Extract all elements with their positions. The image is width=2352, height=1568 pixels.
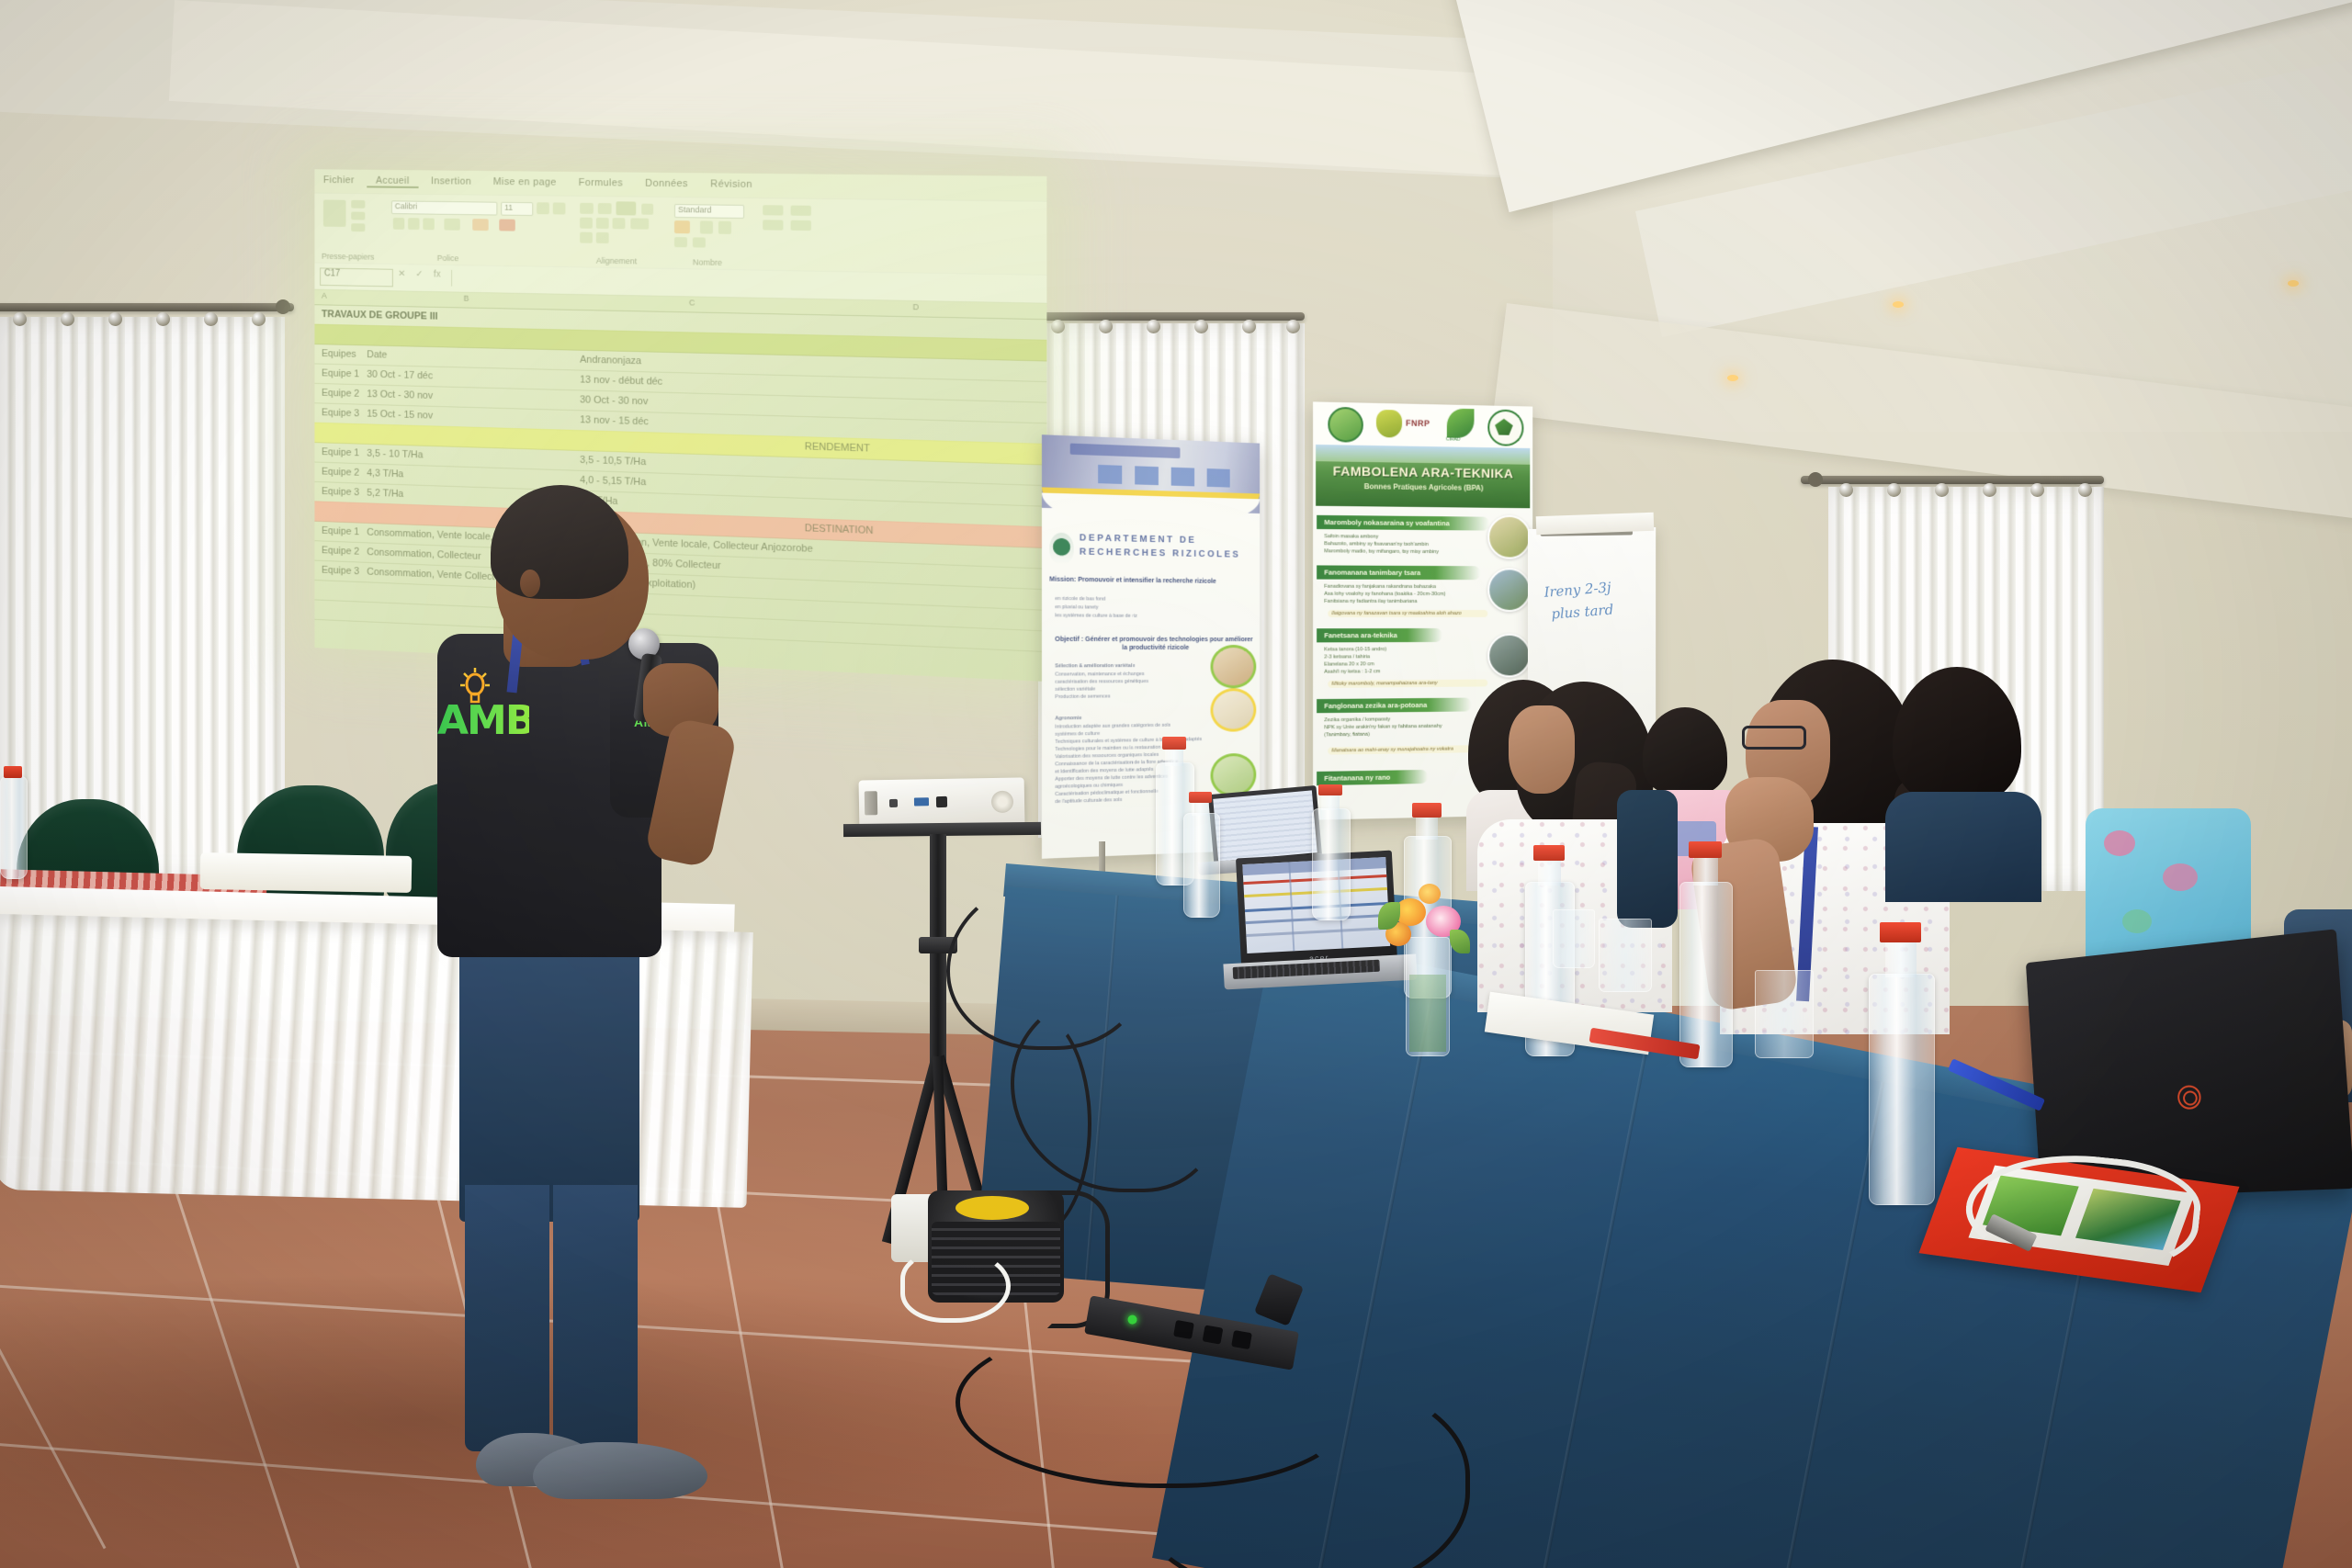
drinking-glass[interactable] <box>1599 919 1652 992</box>
projector-power-port <box>889 799 898 807</box>
banner-bullet: NPK sy Urée arakin'ny fakan sy fahitana … <box>1324 724 1442 732</box>
banner-section-photo <box>1487 515 1531 559</box>
font-color-icon[interactable] <box>499 220 514 231</box>
fofifa-logo-icon <box>1328 407 1363 443</box>
banner-bullet: Elanelana 20 x 20 cm <box>1324 661 1374 669</box>
col-header-a[interactable]: A <box>322 291 327 300</box>
projector <box>859 777 1025 828</box>
drinking-glass[interactable] <box>1755 970 1814 1058</box>
presenter-ear <box>520 570 540 597</box>
percent-icon[interactable] <box>700 220 713 233</box>
grow-font-icon[interactable] <box>537 202 549 214</box>
curtain-left <box>0 317 285 882</box>
banner-photo-circle <box>1211 645 1257 688</box>
insert-function-icon[interactable]: fx <box>430 269 444 286</box>
bottle-neck <box>1885 939 1917 977</box>
banner-bullet: Asahi'i ny ketsa : 1-2 cm <box>1324 669 1380 676</box>
excel-tab-mise-en-page[interactable]: Mise en page <box>484 171 565 188</box>
presenter-leg-right <box>553 1185 638 1461</box>
ribbon-group-clipboard: Presse-papiers <box>322 252 374 262</box>
eyeglasses-icon <box>1742 726 1806 750</box>
bottle-cap[interactable] <box>1162 737 1186 750</box>
excel-tab-fichier[interactable]: Fichier <box>314 169 363 186</box>
banner-title: FAMBOLENA ARA-TEKNIKA <box>1316 463 1530 480</box>
number-format-value: Standard <box>678 205 711 214</box>
paste-button[interactable] <box>323 199 346 227</box>
banner-section-heading: Maromboly nokasaraina sy voafantina <box>1317 515 1489 531</box>
banner-section-heading: Fanetsana ara-teknika <box>1317 628 1442 642</box>
bottle-neck <box>1693 854 1718 886</box>
name-box[interactable]: C17 <box>320 267 393 287</box>
flipchart-handwriting-line1: Ireny 2-3j <box>1543 579 1611 601</box>
banner-section-photo <box>1487 634 1531 678</box>
merge-cells-icon[interactable] <box>630 218 649 229</box>
bold-icon[interactable] <box>393 218 404 230</box>
align-middle-icon[interactable] <box>598 203 612 214</box>
curtain-grommet <box>1147 320 1160 333</box>
cell: Equipe 3 <box>322 481 363 502</box>
borders-icon[interactable] <box>444 219 459 231</box>
wrap-text-icon[interactable] <box>616 201 637 215</box>
excel-ribbon: Presse-papiers Calibri 11 Police A <box>314 193 1046 276</box>
cell: Equipe 1 <box>322 364 363 385</box>
excel-tab-donnees[interactable]: Données <box>636 173 696 190</box>
cell: Equipe 3 <box>322 560 363 581</box>
cut-icon[interactable] <box>351 200 365 209</box>
flower-orange <box>1419 884 1441 904</box>
curtain-grommet <box>1286 320 1300 333</box>
fill-color-icon[interactable] <box>472 219 488 231</box>
banner-bullet: 2-3 ketsana / tahiria <box>1324 654 1370 661</box>
banner-note: Mitoky maromboly, manampahaizana ara-tan… <box>1328 679 1487 687</box>
banner-bullet: Bahazoto, ambiny sy fisavanan'ny tsoh'am… <box>1324 541 1429 548</box>
water-bottle[interactable] <box>1869 974 1935 1205</box>
banner-section-a: Sélection & amélioration variétale <box>1055 663 1225 671</box>
water-bottle[interactable] <box>1312 808 1351 920</box>
curtain-grommet <box>1099 320 1113 333</box>
table-cloth-fold <box>200 852 413 893</box>
conference-room-photo: Fichier Accueil Insertion Mise en page F… <box>0 0 2352 1568</box>
curtain-grommet <box>13 312 27 326</box>
fill-icon[interactable] <box>791 206 811 216</box>
shrink-font-icon[interactable] <box>553 202 566 214</box>
banner-mission-bullet: en pluvial ou tanety <box>1055 604 1225 613</box>
cell: Equipe 3 <box>322 403 363 424</box>
excel-tab-revision[interactable]: Révision <box>701 173 762 190</box>
banner-bullet: Asa lohy voalohy sy fanohana (toakika - … <box>1324 592 1445 599</box>
curtain-rod-left <box>0 303 294 311</box>
banner-hero-sky <box>1316 445 1530 465</box>
bottle-cap[interactable] <box>1689 841 1722 858</box>
water-bottle[interactable] <box>0 776 28 879</box>
bottle-cap[interactable] <box>1533 845 1565 861</box>
cirad-logo-icon <box>1447 409 1475 438</box>
currency-icon[interactable] <box>674 220 690 233</box>
underline-icon[interactable] <box>423 218 434 230</box>
banner-title-line2: RECHERCHES RIZICOLES <box>1080 547 1240 559</box>
curtain-grommet <box>252 312 266 326</box>
acer-keyboard[interactable] <box>1233 960 1380 979</box>
floral-print <box>2122 909 2152 933</box>
banner-bullet: Fanitsiana ny fadiantra ilay tanimbarian… <box>1324 599 1417 606</box>
floral-print <box>2163 863 2198 891</box>
cancel-formula-icon[interactable]: ✕ <box>395 269 409 286</box>
curtain-grommet <box>204 312 218 326</box>
confirm-formula-icon[interactable]: ✓ <box>413 269 426 286</box>
excel-tab-insertion[interactable]: Insertion <box>422 170 480 186</box>
curtain-grommet <box>1935 483 1949 497</box>
ribbon-group-nombre: Nombre <box>693 257 722 267</box>
bottle-cap[interactable] <box>4 766 22 778</box>
bottle-cap[interactable] <box>1318 784 1342 795</box>
banner-section-heading: Fanglonana zezika ara-potoana <box>1317 698 1471 714</box>
align-center-icon[interactable] <box>596 218 609 229</box>
align-top-icon[interactable] <box>580 203 594 214</box>
increase-decimal-icon[interactable] <box>674 237 687 247</box>
font-size-value: 11 <box>504 203 513 212</box>
banner-mission-bullet: les systèmes de culture à base de riz <box>1055 613 1225 621</box>
ceiling-downlight <box>1727 375 1738 381</box>
flower-leaf <box>1450 930 1470 953</box>
banner-note: Manatsara ao mahi-anay sy manajahoatra n… <box>1328 745 1487 755</box>
increase-indent-icon[interactable] <box>596 232 609 243</box>
banner-bullet: Maromboly madio, tsy mifangaro, tsy misy… <box>1324 548 1439 556</box>
font-name-value: Calibri <box>395 201 417 210</box>
cirad-logo-text: CIRAD <box>1446 436 1460 442</box>
fofifa-logo-icon <box>1049 533 1074 565</box>
cell: Equipes <box>322 344 363 365</box>
bottle-neck <box>1416 814 1438 840</box>
bottle-cap[interactable] <box>1880 922 1921 942</box>
bottle-cap[interactable] <box>1189 792 1212 803</box>
participant-woman-polka-face <box>1509 705 1575 794</box>
excel-tab-accueil[interactable]: Accueil <box>367 170 419 188</box>
banner-hero-field: FAMBOLENA ARA-TEKNIKA Bonnes Pratiques A… <box>1316 445 1530 508</box>
decrease-decimal-icon[interactable] <box>693 237 706 247</box>
banner-subtitle: Bonnes Pratiques Agricoles (BPA) <box>1316 481 1530 492</box>
participant-holding-child-arm <box>1617 790 1678 928</box>
banner-wave-white <box>1042 493 1260 532</box>
banner-bullet: (Tanimbary, fiatana) <box>1324 732 1370 739</box>
find-select-icon[interactable] <box>791 220 811 231</box>
ceiling-downlight <box>2288 280 2299 287</box>
cell: Equipe 1 <box>322 442 363 463</box>
orientation-icon[interactable] <box>641 204 653 215</box>
banner-photo-circle <box>1211 688 1257 732</box>
curtain-grommet <box>2078 483 2092 497</box>
ribbon-group-police: Police <box>437 254 459 263</box>
col-header-b[interactable]: B <box>464 294 469 303</box>
curtain-grommet <box>2030 483 2044 497</box>
banner-title-line1: DEPARTEMENT DE <box>1080 533 1197 546</box>
cell: Equipe 2 <box>322 383 363 404</box>
presenter-leg-left <box>465 1185 549 1451</box>
presenter-shirt-logo-text: AMBIA <box>437 700 529 744</box>
banner-bullet: Safoin masaka ambony <box>1324 534 1378 541</box>
reel-hub <box>955 1196 1029 1220</box>
banner-logo-row: FNRP CIRAD <box>1313 401 1532 448</box>
rice-logo-icon <box>1376 410 1402 438</box>
projector-vent-icon <box>991 791 1013 813</box>
curtain-grommet <box>1839 483 1853 497</box>
bottle-cap[interactable] <box>1412 803 1442 818</box>
align-right-icon[interactable] <box>613 218 626 229</box>
ribbon-group-alignement: Alignement <box>596 256 637 266</box>
bottle-neck <box>1538 858 1561 886</box>
curtain-grommet <box>61 312 74 326</box>
copy-icon[interactable] <box>351 212 365 220</box>
comma-style-icon[interactable] <box>718 221 731 234</box>
banner-section-heading: Fanomanana tanimbary tsara <box>1317 565 1480 580</box>
projected-screen: Fichier Accueil Insertion Mise en page F… <box>314 169 1046 682</box>
projector-lens <box>865 791 877 815</box>
flipchart-handwriting-line2: plus tard <box>1551 602 1614 623</box>
curtain-grommet <box>1983 483 1996 497</box>
banner-mission: Mission: Promouvoir et intensifier la re… <box>1049 575 1254 586</box>
curtain-grommet <box>1887 483 1901 497</box>
fnrp-logo-text: FNRP <box>1406 419 1430 429</box>
white-extension-cord <box>900 1249 1011 1323</box>
italic-icon[interactable] <box>408 218 419 230</box>
autosum-icon[interactable] <box>763 205 783 215</box>
floral-print <box>2104 830 2135 856</box>
curtain-grommet <box>156 312 170 326</box>
cell: Equipe 2 <box>322 462 363 483</box>
projector-vga-port <box>914 797 929 806</box>
curtain-rod-knob <box>1808 472 1823 487</box>
curtain-grommet <box>1194 320 1208 333</box>
banner-section-a-bullet: Production de semences <box>1055 693 1225 701</box>
water-bottle[interactable] <box>1183 813 1220 918</box>
presenter-trousers <box>459 937 639 1222</box>
excel-sheet-area: TRAVAUX DE GROUPE III Equipes Date Andra… <box>314 304 1046 682</box>
banner-section-heading: Fitantanana ny rano <box>1317 770 1428 785</box>
align-left-icon[interactable] <box>580 218 593 229</box>
banner-section-photo <box>1487 568 1531 612</box>
col-header-c[interactable]: C <box>689 298 695 307</box>
col-header-d[interactable]: D <box>912 302 919 311</box>
cell: Equipe 2 <box>322 540 363 561</box>
flower-bouquet <box>1378 882 1479 964</box>
banner-note: Ilaigovana ny fanazavan tsara sy maaloah… <box>1328 610 1487 617</box>
projector-hdmi-port <box>936 796 947 807</box>
participant-behind-top <box>1885 792 2041 902</box>
water-bottle[interactable] <box>1679 882 1733 1067</box>
drinking-glass[interactable] <box>1553 909 1595 968</box>
excel-tab-formules[interactable]: Formules <box>570 172 632 189</box>
sort-filter-icon[interactable] <box>763 220 783 230</box>
cell: Equipe 1 <box>322 521 363 542</box>
banner-mission-bullet: en rizicole de bas fond <box>1055 596 1225 604</box>
banner-bullet: Ketsa tanora (10-15 andro) <box>1324 647 1386 654</box>
head-table-skirt <box>0 914 753 1208</box>
dell-logo-icon <box>2177 1085 2201 1111</box>
curtain-grommet <box>1242 320 1256 333</box>
banner-bullet: Fanadiovana sy fanjakana rakandrana baha… <box>1324 584 1436 592</box>
decrease-indent-icon[interactable] <box>580 232 593 243</box>
format-painter-icon[interactable] <box>351 223 365 231</box>
ceiling-downlight <box>1893 301 1904 308</box>
curtain-grommet <box>108 312 122 326</box>
